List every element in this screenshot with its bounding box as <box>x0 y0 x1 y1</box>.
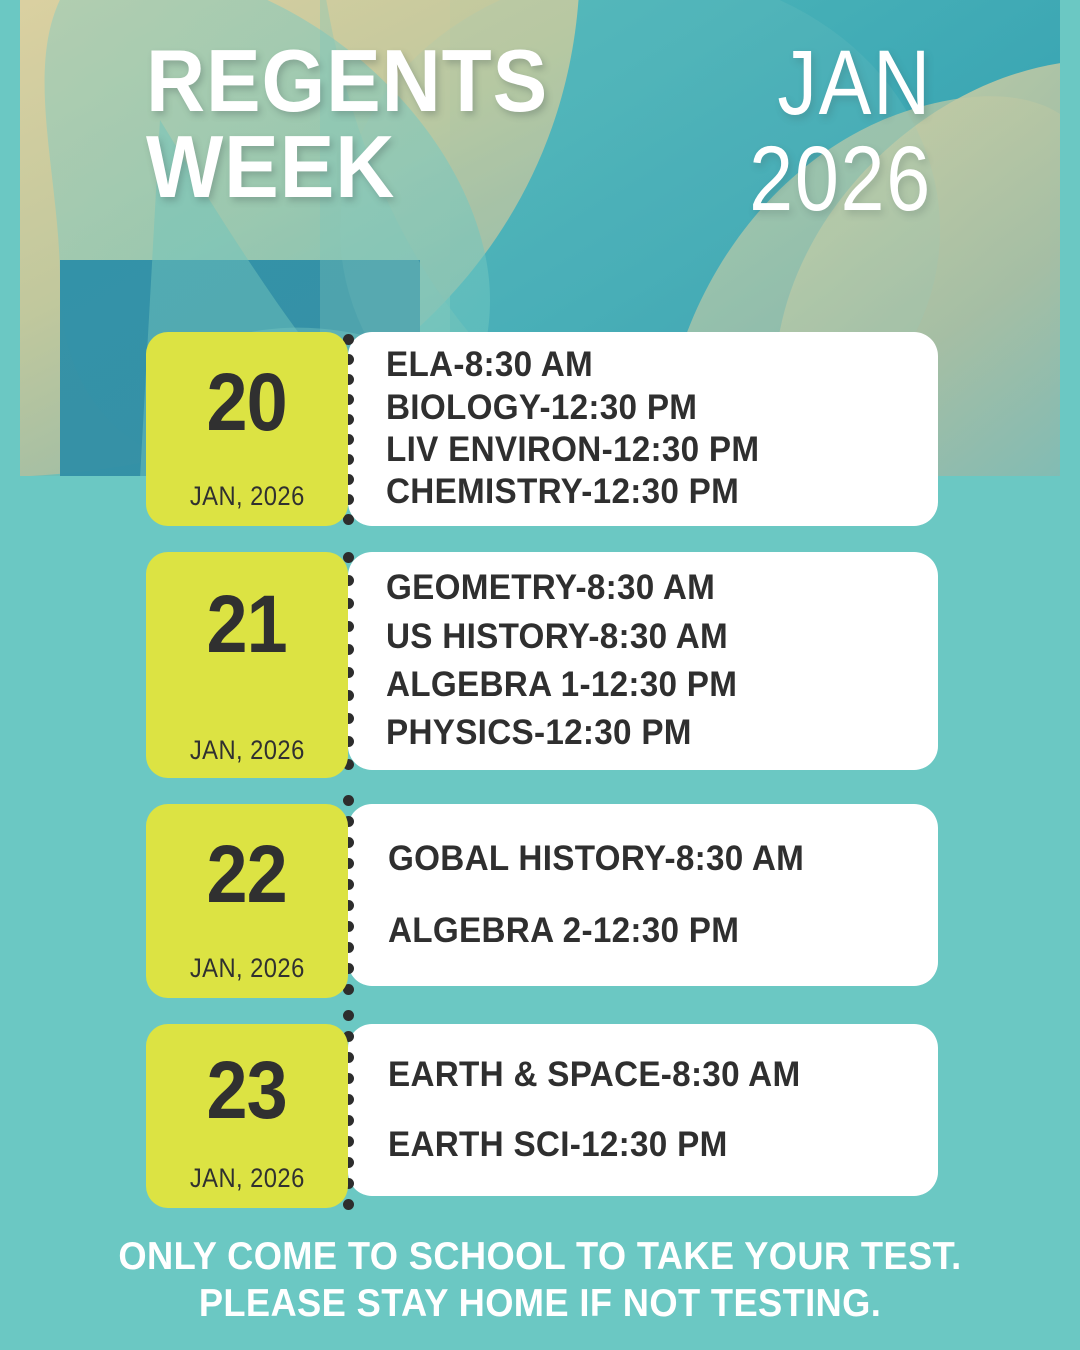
year-label: 2026 <box>648 132 932 228</box>
date-badge: 21 JAN, 2026 <box>146 552 348 778</box>
exam-entry: PHYSICS-12:30 PM <box>386 709 910 757</box>
exam-entry: ALGEBRA 2-12:30 PM <box>388 895 911 967</box>
exam-card: GEOMETRY-8:30 AM US HISTORY-8:30 AM ALGE… <box>348 552 938 770</box>
date-day-number: 20 <box>207 362 287 444</box>
exam-entry: GEOMETRY-8:30 AM <box>386 564 910 612</box>
footer-line-1: ONLY COME TO SCHOOL TO TAKE YOUR TEST. <box>38 1233 1042 1281</box>
month-label: JAN <box>648 36 932 132</box>
schedule-row[interactable]: 21 JAN, 2026 GEOMETRY-8:30 AM US HISTORY… <box>0 552 1080 778</box>
poster-month-year: JAN 2026 <box>602 36 932 227</box>
date-badge: 23 JAN, 2026 <box>146 1024 348 1208</box>
exam-entry: US HISTORY-8:30 AM <box>386 613 910 661</box>
exam-entry: EARTH SCI-12:30 PM <box>388 1110 911 1180</box>
schedule-row[interactable]: 20 JAN, 2026 ELA-8:30 AM BIOLOGY-12:30 P… <box>0 332 1080 526</box>
title-line-week: WEEK <box>146 124 546 210</box>
date-month-year: JAN, 2026 <box>190 955 305 998</box>
date-day-number: 21 <box>207 584 287 666</box>
date-badge: 20 JAN, 2026 <box>146 332 348 526</box>
footer-notice: ONLY COME TO SCHOOL TO TAKE YOUR TEST. P… <box>0 1233 1080 1328</box>
exam-entry: CHEMISTRY-12:30 PM <box>386 471 910 513</box>
exam-entry: EARTH & SPACE-8:30 AM <box>388 1040 911 1110</box>
exam-entry: ELA-8:30 AM <box>386 344 910 386</box>
date-month-year: JAN, 2026 <box>190 1165 305 1208</box>
exam-card: ELA-8:30 AM BIOLOGY-12:30 PM LIV ENVIRON… <box>348 332 938 526</box>
exam-schedule-list: 20 JAN, 2026 ELA-8:30 AM BIOLOGY-12:30 P… <box>0 332 1080 1234</box>
title-line-regents: REGENTS <box>146 38 546 124</box>
poster-title: REGENTS WEEK <box>146 38 576 210</box>
exam-entry: BIOLOGY-12:30 PM <box>386 387 910 429</box>
date-day-number: 23 <box>207 1050 287 1132</box>
schedule-row[interactable]: 23 JAN, 2026 EARTH & SPACE-8:30 AM EARTH… <box>0 1024 1080 1208</box>
date-month-year: JAN, 2026 <box>190 483 305 526</box>
exam-card: GOBAL HISTORY-8:30 AM ALGEBRA 2-12:30 PM <box>348 804 938 986</box>
exam-entry: GOBAL HISTORY-8:30 AM <box>388 823 911 895</box>
regents-week-poster: REGENTS WEEK JAN 2026 20 JAN, 2026 ELA-8… <box>0 0 1080 1350</box>
schedule-row[interactable]: 22 JAN, 2026 GOBAL HISTORY-8:30 AM ALGEB… <box>0 804 1080 998</box>
footer-line-2: PLEASE STAY HOME IF NOT TESTING. <box>38 1280 1042 1328</box>
date-month-year: JAN, 2026 <box>190 737 305 778</box>
date-badge: 22 JAN, 2026 <box>146 804 348 998</box>
date-day-number: 22 <box>207 834 287 916</box>
exam-entry: LIV ENVIRON-12:30 PM <box>386 429 910 471</box>
exam-entry: ALGEBRA 1-12:30 PM <box>386 661 910 709</box>
exam-card: EARTH & SPACE-8:30 AM EARTH SCI-12:30 PM <box>348 1024 938 1196</box>
